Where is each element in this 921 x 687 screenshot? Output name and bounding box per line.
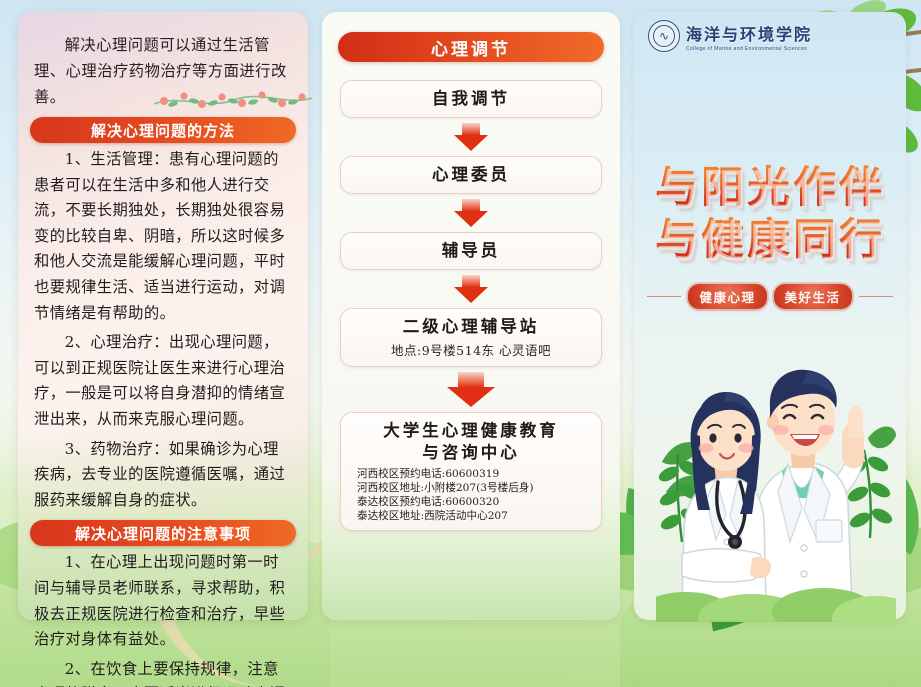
doctors-illustration — [656, 342, 896, 622]
left-content-panel: 解决心理问题可以通过生活管理、心理治疗药物治疗等方面进行改善。 — [18, 12, 308, 620]
flow-node-counseling-center: 大学生心理健康教育 与咨询中心 河西校区预约电话:60600319 河西校区地址… — [340, 412, 602, 531]
college-name-en: College of Marine and Environmental Scie… — [686, 46, 812, 52]
center-flowchart-panel: 心理调节 自我调节 心理委员 辅导员 二级心理辅导站 地点:9号楼514东 心灵… — [322, 12, 620, 620]
college-name-cn: 海洋与环境学院 — [686, 21, 812, 45]
flow-node-label: 自我调节 — [347, 88, 595, 110]
flow-node-self-regulation: 自我调节 — [340, 80, 602, 118]
down-arrow-icon — [447, 372, 495, 407]
down-arrow-icon — [454, 275, 488, 303]
section-heading-notes: 解决心理问题的注意事项 — [30, 520, 296, 546]
contact-line: 河西校区预约电话:60600319 — [347, 467, 595, 481]
badge-good-life: 美好生活 — [774, 284, 852, 309]
contact-line: 泰达校区预约电话:60600320 — [347, 495, 595, 509]
hero-title-line2: 与健康同行 — [634, 214, 906, 266]
badge-rule-left — [647, 296, 681, 298]
flow-node-counselor: 辅导员 — [340, 232, 602, 270]
body-paragraph: 1、在心理上出现问题时第一时间与辅导员老师联系，寻求帮助，积极去正规医院进行检查… — [34, 550, 290, 652]
flow-node-label-line1: 大学生心理健康教育 — [347, 420, 595, 442]
flow-node-location: 地点:9号楼514东 心灵语吧 — [347, 340, 595, 359]
badge-rule-right — [859, 296, 893, 298]
college-seal-icon: ∿ — [648, 20, 680, 52]
contact-line: 泰达校区地址:西院活动中心207 — [347, 509, 595, 523]
hero-badges: 健康心理 美好生活 — [634, 284, 906, 309]
floral-divider-icon — [150, 88, 316, 110]
section-heading-methods: 解决心理问题的方法 — [30, 117, 296, 143]
badge-healthy-mind: 健康心理 — [688, 284, 766, 309]
right-hero-panel: ∿ 海洋与环境学院 College of Marine and Environm… — [634, 12, 906, 620]
contact-line: 河西校区地址:小附楼207(3号楼后身) — [347, 481, 595, 495]
poster-canvas: 解决心理问题可以通过生活管理、心理治疗药物治疗等方面进行改善。 — [0, 0, 921, 687]
flowchart-title: 心理调节 — [338, 32, 604, 62]
down-arrow-icon — [454, 123, 488, 151]
hero-title-line1: 与阳光作伴 — [634, 162, 906, 214]
body-paragraph: 2、在饮食上要保持规律，注意合理的膳食，也要适当进行运动来调节情绪，比如打羽毛球… — [34, 657, 290, 687]
flow-node-level2-station: 二级心理辅导站 地点:9号楼514东 心灵语吧 — [340, 308, 602, 367]
down-arrow-icon — [454, 199, 488, 227]
contact-info-list: 河西校区预约电话:60600319 河西校区地址:小附楼207(3号楼后身) 泰… — [347, 467, 595, 523]
flow-node-label-line2: 与咨询中心 — [347, 442, 595, 464]
doctor-female — [682, 392, 771, 604]
flow-node-label: 辅导员 — [347, 240, 595, 262]
flow-node-psych-committee: 心理委员 — [340, 156, 602, 194]
body-paragraph: 3、药物治疗：如果确诊为心理疾病，去专业的医院遵循医嘱，通过服药来缓解自身的症状… — [34, 437, 290, 514]
body-paragraph: 1、生活管理：患有心理问题的患者可以在生活中多和他人进行交流，不要长期独处，长期… — [34, 147, 290, 326]
hero-title: 与阳光作伴 与健康同行 — [634, 162, 906, 266]
body-paragraph: 2、心理治疗：出现心理问题，可以到正规医院让医生来进行心理治疗，一般是可以将自身… — [34, 330, 290, 432]
flow-node-label: 二级心理辅导站 — [347, 316, 595, 338]
flow-node-label: 心理委员 — [347, 164, 595, 186]
college-logo: ∿ 海洋与环境学院 College of Marine and Environm… — [648, 20, 812, 52]
